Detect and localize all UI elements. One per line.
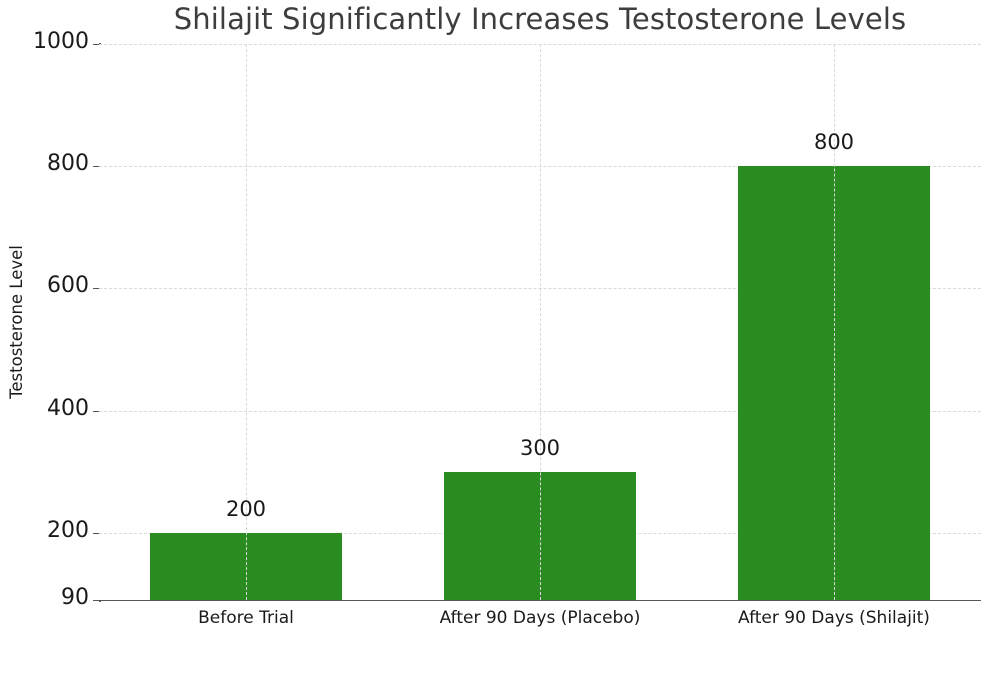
y-tick-mark-600 xyxy=(93,288,99,289)
y-tick-mark-1000 xyxy=(93,44,99,45)
bar-value-label: 200 xyxy=(226,497,266,521)
y-tick-label-400: 400 xyxy=(0,396,89,421)
y-tick-label-1000: 1000 xyxy=(0,29,89,54)
y-tick-label-90: 90 xyxy=(0,585,89,610)
chart-title: Shilajit Significantly Increases Testost… xyxy=(99,2,981,36)
gridline-x-1 xyxy=(540,44,541,600)
y-tick-label-600: 600 xyxy=(0,273,89,298)
y-tick-label-200: 200 xyxy=(0,518,89,543)
x-tick-label-1: After 90 Days (Placebo) xyxy=(440,608,641,628)
x-tick-label-2: After 90 Days (Shilajit) xyxy=(738,608,930,628)
y-tick-label-800: 800 xyxy=(0,151,89,176)
y-tick-mark-400 xyxy=(93,411,99,412)
y-axis-title: Testosterone Level xyxy=(0,44,34,600)
y-tick-mark-200 xyxy=(93,533,99,534)
gridline-x-2 xyxy=(834,44,835,600)
y-tick-mark-800 xyxy=(93,166,99,167)
bar-value-label: 800 xyxy=(814,130,854,154)
y-tick-mark-90 xyxy=(93,600,99,601)
bar-chart-figure: Shilajit Significantly Increases Testost… xyxy=(0,0,1000,678)
bar-value-label: 300 xyxy=(520,436,560,460)
x-tick-label-0: Before Trial xyxy=(198,608,294,628)
